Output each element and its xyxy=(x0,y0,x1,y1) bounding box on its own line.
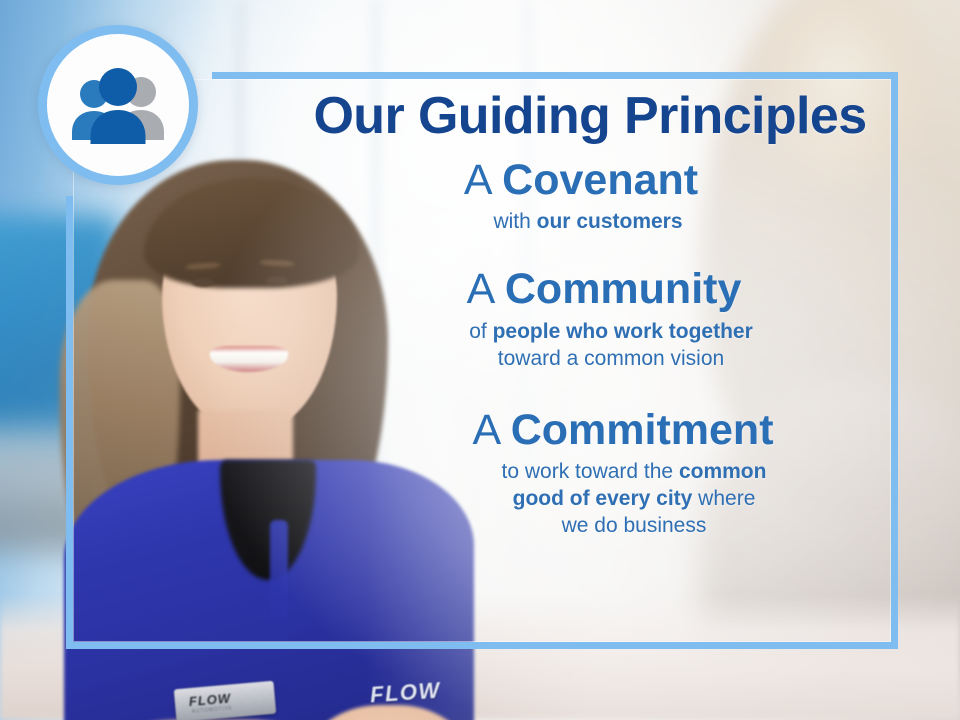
shirt-placket xyxy=(270,520,288,690)
plain-text: of xyxy=(469,320,492,343)
plain-text: toward a common vision xyxy=(498,347,724,370)
principle-description-line: to work toward the common xyxy=(388,459,880,486)
principle-keyword: Covenant xyxy=(502,156,698,204)
principle-keyword: Commitment xyxy=(511,406,774,454)
principle-description-line: of people who work together xyxy=(342,319,880,346)
principle-heading: A Community xyxy=(328,266,880,312)
page-title: Our Guiding Principles xyxy=(300,90,880,143)
emphasis-text: common xyxy=(679,460,767,483)
principle-article: A xyxy=(464,156,502,204)
people-group-icon-badge xyxy=(38,25,198,185)
plain-text: we do business xyxy=(562,514,707,537)
principle-heading: A Commitment xyxy=(366,407,880,453)
principle-description-line: toward a common vision xyxy=(342,346,880,373)
principle-heading: A Covenant xyxy=(282,157,880,203)
banner-text-column: Our Guiding Principles A Covenantwith ou… xyxy=(300,90,880,540)
principles-list: A Covenantwith our customersA Communityo… xyxy=(300,157,880,540)
principle-description: to work toward the commongood of every c… xyxy=(388,459,880,540)
principle-article: A xyxy=(472,406,510,454)
plain-text: to work toward the xyxy=(502,460,679,483)
guiding-principles-banner: FLOW AUTOMOTIVE FLOW xyxy=(0,0,960,720)
eye-right xyxy=(266,276,288,285)
principle-keyword: Community xyxy=(505,265,742,313)
principle-description-line: with our customers xyxy=(296,209,880,236)
shirt-flow-logo: FLOW xyxy=(369,678,441,709)
principle-article: A xyxy=(467,265,505,313)
principle-description: of people who work togethertoward a comm… xyxy=(342,319,880,373)
principle-block: A Commitmentto work toward the commongoo… xyxy=(366,407,880,540)
principle-block: A Covenantwith our customers xyxy=(282,157,880,236)
plain-text: with xyxy=(493,210,536,233)
principle-description-line: we do business xyxy=(388,513,880,540)
principle-block: A Communityof people who work togetherto… xyxy=(328,266,880,372)
principle-description-line: good of every city where xyxy=(388,486,880,513)
emphasis-text: good of every city xyxy=(513,487,693,510)
people-group-icon xyxy=(63,66,173,144)
principle-description: with our customers xyxy=(296,209,880,236)
emphasis-text: our customers xyxy=(537,210,683,233)
eye-left xyxy=(192,278,214,287)
emphasis-text: people who work together xyxy=(493,320,753,343)
plain-text: where xyxy=(692,487,755,510)
